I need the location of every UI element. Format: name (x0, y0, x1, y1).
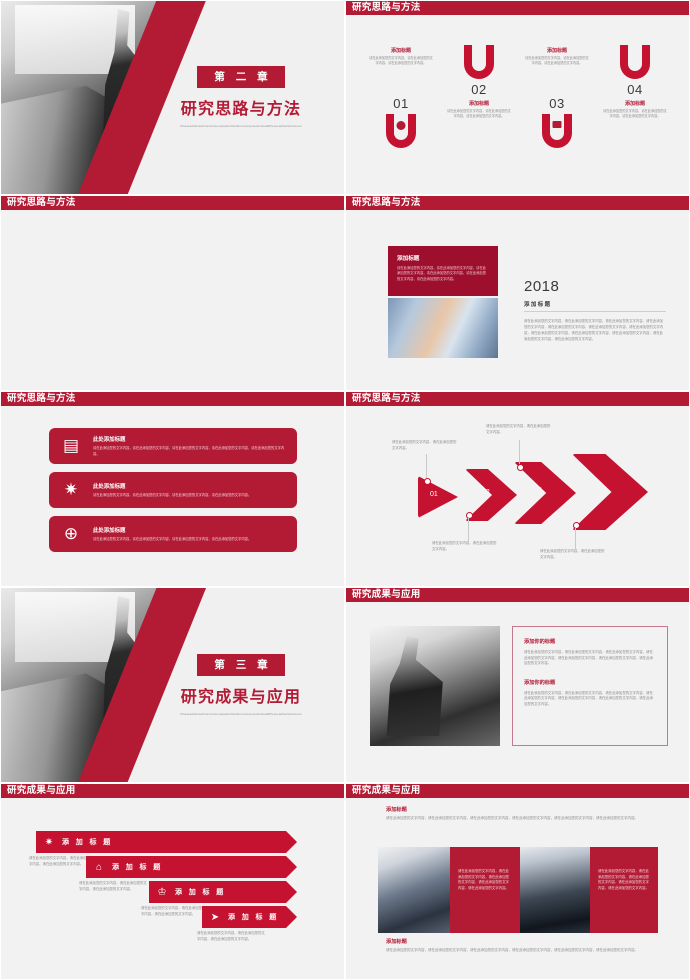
chevron-leader-02 (468, 517, 469, 541)
chevron-label-04: 请在此添加您的文字内容，请在此添加您的文字内容。 (540, 549, 606, 560)
battery-icon: ▤ (49, 436, 93, 456)
magnet-text-02: 添加标题 请在此添加您的文字内容，请在此添加您的文字内容，请在此添加您的文字内容… (442, 100, 516, 119)
text-panel[interactable]: 添加你的标题 请在此添加您的文字内容，请在此添加您的文字内容，请在此添加您的文字… (512, 626, 668, 746)
card-text-group: 此处添加标题 请在此添加您的文字内容，请在此添加您的文字内容，请在此添加您的文字… (93, 482, 297, 498)
panel-text-1: 请在此添加您的文字内容，请在此添加您的文字内容，请在此添加您的文字内容，请在此添… (524, 650, 656, 667)
chapter-title: 研究成果与应用 (181, 683, 301, 707)
slide-deck: 第 二 章 研究思路与方法 Pleaseaddaclearbusinesstem… (0, 0, 690, 980)
chevron-dot-01 (424, 478, 431, 485)
chevron-label-02: 请在此添加您的文字内容，请在此添加您的文字内容。 (432, 541, 498, 552)
top-text-group: 添加标题 请在此添加您的文字内容，请在此添加您的文字内容，请在此添加您的文字内容… (386, 806, 658, 822)
banner-row-2[interactable]: ⌂ 添 加 标 题 (86, 856, 286, 878)
banner-text-3: 请在此添加您的文字内容，请在此添加您的文字内容，请在此添加您的文字内容。 (141, 906, 211, 917)
trophy-icon: ♔ (149, 887, 175, 898)
magnet-u-icon (464, 45, 494, 79)
magnet-text-01: 添加标题 请在此添加您的文字内容，请在此添加您的文字内容，请在此添加您的文字内容… (364, 37, 438, 93)
magnet-body: 请在此添加您的文字内容，请在此添加您的文字内容，请在此添加您的文字内容。 (364, 56, 438, 66)
top-title: 添加标题 (386, 806, 658, 813)
card-title: 此处添加标题 (93, 526, 289, 534)
chapter-title: 研究思路与方法 (181, 95, 301, 119)
magnet-u-icon (542, 114, 572, 148)
magnet-title: 添加标题 (442, 100, 516, 107)
banner-title: 添 加 标 题 (175, 887, 226, 897)
chapter-subtitle: Pleaseaddaclearbusinesstemplateforthetit… (177, 712, 305, 717)
header-title: 研究思路与方法 (352, 197, 421, 209)
red-block-text-2: 请在此添加您的文字内容，请在此添加您的文字内容，请在此添加您的文字内容，请在此添… (590, 847, 658, 913)
card-text: 请在此添加您的文字内容，请在此添加您的文字内容，请在此添加您的文字内容，请在此添… (397, 266, 489, 282)
panel-title-2: 添加你的标题 (524, 679, 656, 686)
slide-body: 添加标题 请在此添加您的文字内容，请在此添加您的文字内容，请在此添加您的文字内容… (346, 15, 689, 194)
chevron-leader-04 (575, 527, 576, 549)
header-title: 研究成果与应用 (352, 589, 421, 601)
magnet-title: 添加标题 (598, 100, 672, 107)
banner-title: 添 加 标 题 (228, 912, 279, 922)
card-text-group: 此处添加标题 请在此添加您的文字内容，请在此添加您的文字内容，请在此添加您的文字… (93, 435, 297, 457)
magnet-u-icon (620, 45, 650, 79)
red-text-card[interactable]: 添加标题 请在此添加您的文字内容，请在此添加您的文字内容，请在此添加您的文字内容… (388, 246, 498, 296)
bottom-text: 请在此添加您的文字内容，请在此添加您的文字内容，请在此添加您的文字内容，请在此添… (386, 948, 658, 954)
red-block-text-1: 请在此添加您的文字内容，请在此添加您的文字内容，请在此添加您的文字内容，请在此添… (450, 847, 520, 913)
chevron-label-03: 请在此添加您的文字内容，请在此添加您的文字内容。 (486, 424, 552, 435)
sub-title: 添 加 标 题 (524, 300, 666, 308)
step-number: 01 (430, 491, 438, 498)
magnet-item-02[interactable]: 02 添加标题 请在此添加您的文字内容，请在此添加您的文字内容，请在此添加您的文… (442, 37, 516, 180)
chevron-step-03[interactable]: 03 (514, 462, 576, 524)
home-icon: ⌂ (86, 862, 112, 873)
banner-title: 添 加 标 题 (62, 837, 113, 847)
magnet-item-04[interactable]: 04 添加标题 请在此添加您的文字内容，请在此添加您的文字内容，请在此添加您的文… (598, 37, 672, 180)
chevron-dot-03 (517, 464, 524, 471)
step-number: 03 (534, 487, 542, 494)
red-card-3[interactable]: ⊕ 此处添加标题 请在此添加您的文字内容，请在此添加您的文字内容，请在此添加您的… (49, 516, 297, 552)
magnet-item-03[interactable]: 添加标题 请在此添加您的文字内容，请在此添加您的文字内容，请在此添加您的文字内容… (520, 37, 594, 180)
header-title: 研究思路与方法 (7, 197, 76, 209)
red-block-1[interactable]: 请在此添加您的文字内容，请在此添加您的文字内容，请在此添加您的文字内容，请在此添… (450, 847, 520, 933)
gear-icon: ✷ (49, 480, 93, 500)
chevron-label-01: 请在此添加您的文字内容，请在此添加您的文字内容。 (392, 440, 458, 451)
bottom-text-group: 添加标题 请在此添加您的文字内容，请在此添加您的文字内容，请在此添加您的文字内容… (386, 938, 658, 954)
chevron-leader-01 (426, 454, 427, 478)
chapter-badge: 第 三 章 (197, 654, 284, 676)
red-card-2[interactable]: ✷ 此处添加标题 请在此添加您的文字内容，请在此添加您的文字内容，请在此添加您的… (49, 472, 297, 508)
magnet-u-icon (386, 114, 416, 148)
magnet-number: 01 (364, 96, 438, 111)
slide-mindmap[interactable]: 研究思路与方法 添加 标题 请在此添加您的文字内容，请在此添加您的文字内容，请在… (0, 195, 345, 391)
magnet-number: 02 (442, 82, 516, 97)
slide-chevrons[interactable]: 研究思路与方法 01 请在此添加您的文字内容，请在此添加您的文字内容。 02 请… (345, 391, 690, 587)
send-icon: ➤ (202, 912, 228, 923)
chapter-subtitle: Pleaseaddaclearbusinesstemplateforthetit… (177, 124, 305, 129)
banner-text-4: 请在此添加您的文字内容，请在此添加您的文字内容，请在此添加您的文字内容。 (197, 931, 267, 942)
divider (524, 311, 666, 312)
magnet-title: 添加标题 (364, 47, 438, 54)
banner-row-3[interactable]: ♔ 添 加 标 题 (149, 881, 286, 903)
city-photo (388, 298, 498, 358)
chevron-step-02[interactable]: 02 (465, 469, 517, 521)
red-card-1[interactable]: ▤ 此处添加标题 请在此添加您的文字内容，请在此添加您的文字内容，请在此添加您的… (49, 428, 297, 464)
gear-icon: ✷ (36, 837, 62, 848)
slide-photo-panel[interactable]: 研究成果与应用 添加你的标题 请在此添加您的文字内容，请在此添加您的文字内容，请… (345, 587, 690, 783)
step-number: 04 (598, 486, 606, 493)
magnet-text-04: 添加标题 请在此添加您的文字内容，请在此添加您的文字内容，请在此添加您的文字内容… (598, 100, 672, 119)
card-title: 此处添加标题 (93, 435, 289, 443)
card-body: 请在此添加您的文字内容，请在此添加您的文字内容，请在此添加您的文字内容，请在此添… (93, 537, 289, 542)
panel-title-1: 添加你的标题 (524, 638, 656, 645)
globe-icon (397, 121, 406, 130)
card-body: 请在此添加您的文字内容，请在此添加您的文字内容，请在此添加您的文字内容，请在此添… (93, 446, 289, 457)
book-icon (553, 121, 562, 128)
chapter-text-group: 第 二 章 研究思路与方法 Pleaseaddaclearbusinesstem… (146, 1, 336, 194)
chapter-text-group: 第 三 章 研究成果与应用 Pleaseaddaclearbusinesstem… (146, 588, 336, 782)
card-body: 请在此添加您的文字内容，请在此添加您的文字内容，请在此添加您的文字内容，请在此添… (93, 493, 289, 498)
year-label: 2018 (524, 278, 666, 295)
header-title: 研究思路与方法 (352, 2, 421, 14)
year-group: 2018 添 加 标 题 请在此添加您的文字内容，请在此添加您的文字内容，请在此… (524, 278, 666, 342)
magnet-row: 添加标题 请在此添加您的文字内容，请在此添加您的文字内容，请在此添加您的文字内容… (364, 37, 677, 180)
chapter-badge: 第 二 章 (197, 66, 284, 88)
bottom-title: 添加标题 (386, 938, 658, 945)
slide-chapter-3[interactable]: 第 三 章 研究成果与应用 Pleaseaddaclearbusinesstem… (0, 587, 345, 783)
magnet-body: 请在此添加您的文字内容，请在此添加您的文字内容，请在此添加您的文字内容。 (598, 109, 672, 119)
office-photo (370, 626, 500, 746)
magnet-body: 请在此添加您的文字内容，请在此添加您的文字内容，请在此添加您的文字内容。 (442, 109, 516, 119)
header-title: 研究成果与应用 (7, 785, 76, 797)
banner-row-4[interactable]: ➤ 添 加 标 题 (202, 906, 286, 928)
chevron-leader-03 (519, 440, 520, 464)
card-title: 添加标题 (397, 254, 489, 262)
header-title: 研究思路与方法 (7, 393, 76, 405)
team-photo-2 (520, 847, 590, 933)
slide-red-cards[interactable]: 研究思路与方法 ▤ 此处添加标题 请在此添加您的文字内容，请在此添加您的文字内容… (0, 391, 345, 587)
card-text-group: 此处添加标题 请在此添加您的文字内容，请在此添加您的文字内容，请在此添加您的文字… (93, 526, 297, 542)
chevron-step-04[interactable]: 04 (572, 454, 648, 530)
zoom-in-icon: ⊕ (49, 524, 93, 544)
header-title: 研究成果与应用 (352, 785, 421, 797)
banner-text-2: 请在此添加您的文字内容，请在此添加您的文字内容，请在此添加您的文字内容。 (79, 881, 149, 892)
slide-magnets[interactable]: 研究思路与方法 添加标题 请在此添加您的文字内容，请在此添加您的文字内容，请在此… (345, 0, 690, 195)
magnet-body: 请在此添加您的文字内容，请在此添加您的文字内容，请在此添加您的文字内容。 (520, 56, 594, 66)
magnet-number: 04 (598, 82, 672, 97)
slide-chapter-2[interactable]: 第 二 章 研究思路与方法 Pleaseaddaclearbusinesstem… (0, 0, 345, 195)
slide-year-2018[interactable]: 研究思路与方法 添加标题 请在此添加您的文字内容，请在此添加您的文字内容，请在此… (345, 195, 690, 391)
magnet-number: 03 (520, 96, 594, 111)
magnet-title: 添加标题 (520, 47, 594, 54)
banner-row-1[interactable]: ✷ 添 加 标 题 (36, 831, 286, 853)
magnet-item-01[interactable]: 添加标题 请在此添加您的文字内容，请在此添加您的文字内容，请在此添加您的文字内容… (364, 37, 438, 180)
slide-banner-arrows[interactable]: 研究成果与应用 ✷ 添 加 标 题 请在此添加您的文字内容，请在此添加您的文字内… (0, 783, 345, 980)
card-title: 此处添加标题 (93, 482, 289, 490)
magnet-text-03: 添加标题 请在此添加您的文字内容，请在此添加您的文字内容，请在此添加您的文字内容… (520, 37, 594, 93)
team-photo-1 (378, 847, 450, 933)
banner-title: 添 加 标 题 (112, 862, 163, 872)
header-title: 研究思路与方法 (352, 393, 421, 405)
step-number: 02 (482, 489, 490, 496)
red-block-2[interactable]: 请在此添加您的文字内容，请在此添加您的文字内容，请在此添加您的文字内容，请在此添… (590, 847, 658, 933)
panel-text-2: 请在此添加您的文字内容，请在此添加您的文字内容，请在此添加您的文字内容，请在此添… (524, 691, 656, 708)
top-text: 请在此添加您的文字内容，请在此添加您的文字内容，请在此添加您的文字内容，请在此添… (386, 816, 658, 822)
body-text: 请在此添加您的文字内容，请在此添加您的文字内容，请在此添加您的文字内容，请在此添… (524, 318, 666, 342)
slide-team-photos[interactable]: 研究成果与应用 添加标题 请在此添加您的文字内容，请在此添加您的文字内容，请在此… (345, 783, 690, 980)
